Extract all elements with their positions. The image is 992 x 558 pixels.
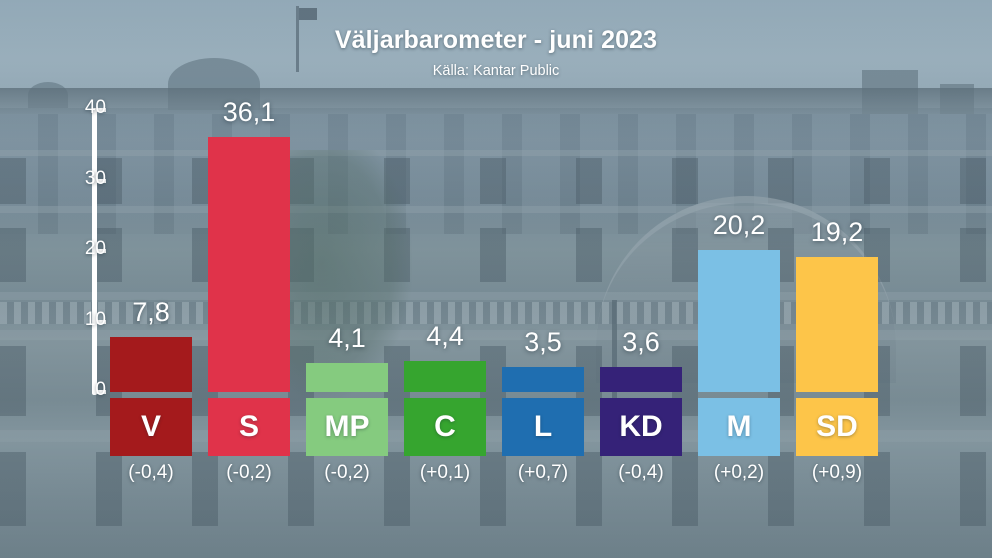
bar-change-label: (-0,2) (297, 462, 397, 484)
bar-change-label: (-0,4) (591, 462, 691, 484)
bar-value-label: 4,1 (297, 323, 397, 354)
bar-party-label[interactable]: S (208, 398, 290, 456)
bar-rect[interactable] (502, 367, 584, 392)
bar-party-label[interactable]: SD (796, 398, 878, 456)
bar-party-label[interactable]: KD (600, 398, 682, 456)
bar-value-label: 3,6 (591, 327, 691, 358)
bar-change-label: (-0,4) (101, 462, 201, 484)
bar-group-mp[interactable]: 4,1MP(-0,2) (306, 0, 388, 558)
bar-group-v[interactable]: 7,8V(-0,4) (110, 0, 192, 558)
bar-group-sd[interactable]: 19,2SD(+0,9) (796, 0, 878, 558)
chart-screenshot: Väljarbarometer - juni 2023 Källa: Kanta… (0, 0, 992, 558)
bar-value-label: 4,4 (395, 321, 495, 352)
bar-party-label[interactable]: M (698, 398, 780, 456)
bar-party-label[interactable]: L (502, 398, 584, 456)
bar-rect[interactable] (404, 361, 486, 392)
bar-rect[interactable] (110, 337, 192, 392)
bar-change-label: (+0,1) (395, 462, 495, 484)
bar-group-m[interactable]: 20,2M(+0,2) (698, 0, 780, 558)
bar-rect[interactable] (208, 137, 290, 392)
bar-rect[interactable] (306, 363, 388, 392)
bar-party-label[interactable]: MP (306, 398, 388, 456)
bar-value-label: 19,2 (787, 217, 887, 248)
bar-value-label: 3,5 (493, 327, 593, 358)
bar-group-s[interactable]: 36,1S(-0,2) (208, 0, 290, 558)
bar-change-label: (-0,2) (199, 462, 299, 484)
bar-group-l[interactable]: 3,5L(+0,7) (502, 0, 584, 558)
bar-party-label[interactable]: C (404, 398, 486, 456)
bar-value-label: 36,1 (199, 97, 299, 128)
bar-rect[interactable] (698, 250, 780, 392)
bar-group-c[interactable]: 4,4C(+0,1) (404, 0, 486, 558)
bar-rect[interactable] (600, 367, 682, 392)
bar-change-label: (+0,7) (493, 462, 593, 484)
bar-party-label[interactable]: V (110, 398, 192, 456)
bar-group-kd[interactable]: 3,6KD(-0,4) (600, 0, 682, 558)
bar-change-label: (+0,2) (689, 462, 789, 484)
bars-layer: 7,8V(-0,4)36,1S(-0,2)4,1MP(-0,2)4,4C(+0,… (0, 0, 992, 558)
bar-value-label: 20,2 (689, 210, 789, 241)
bar-change-label: (+0,9) (787, 462, 887, 484)
bar-rect[interactable] (796, 257, 878, 392)
bar-value-label: 7,8 (101, 297, 201, 328)
